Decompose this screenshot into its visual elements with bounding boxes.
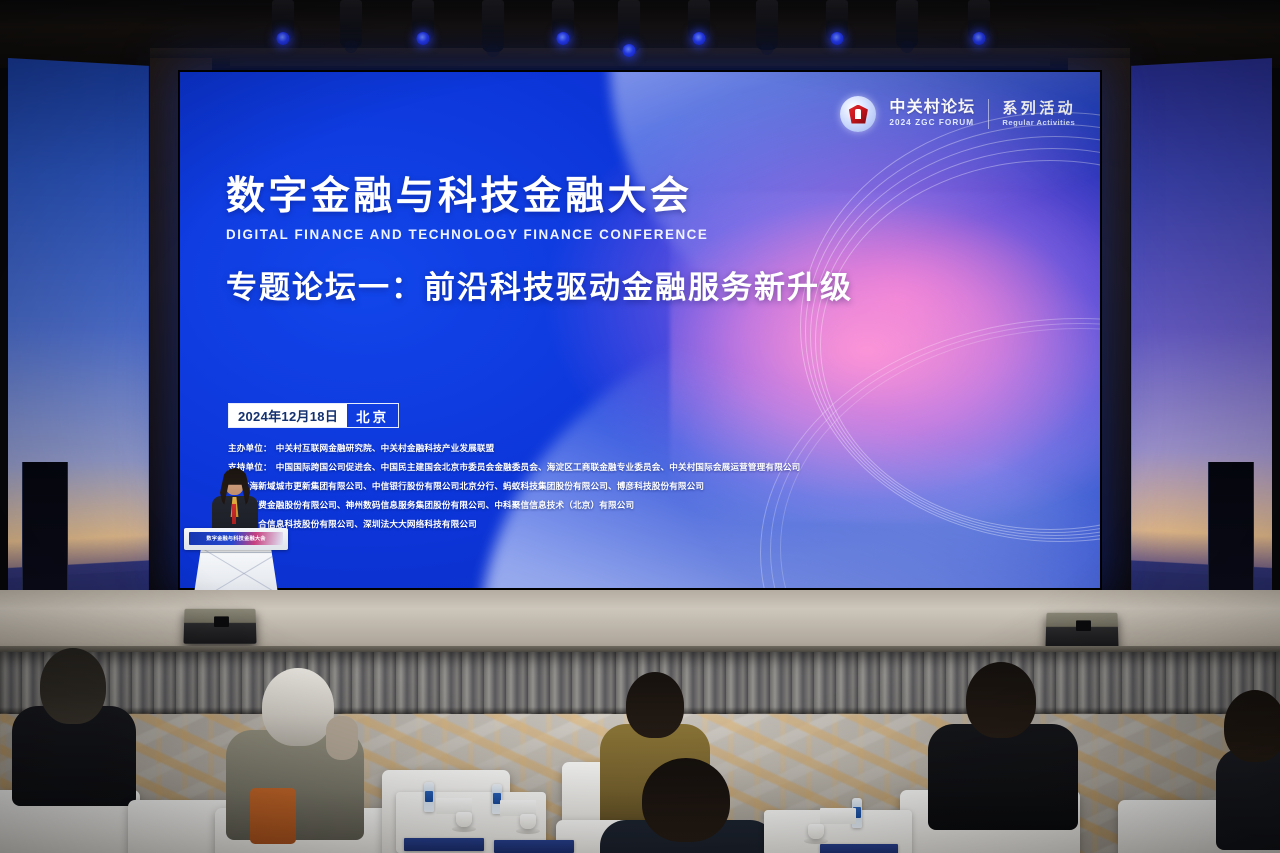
side-door-left — [22, 462, 68, 610]
attendee-head — [626, 672, 684, 738]
logo-series-en: Regular Activities — [1002, 119, 1076, 127]
organizer-text: 北京海新域城市更新集团有限公司、中信银行股份有限公司北京分行、蚂蚁科技集团股份有… — [232, 481, 704, 491]
stage-monitor-wedge-left — [183, 609, 256, 644]
conference-title-en: DIGITAL FINANCE AND TECHNOLOGY FINANCE C… — [226, 227, 853, 242]
place-card — [820, 808, 856, 824]
logo-series-block: 系列活动 Regular Activities — [1002, 101, 1076, 127]
podium-sign-text: 数字金融与科技金融大会 — [206, 535, 265, 542]
delegate-nameplate — [404, 838, 484, 851]
tea-cup — [456, 812, 472, 827]
attendee-head — [642, 758, 730, 842]
organizer-text: 中国国际跨国公司促进会、中国民主建国会北京市委员会金融委员会、海淀区工商联金融专… — [276, 462, 801, 472]
organizer-text: 中关村互联网金融研究院、中关村金融科技产业发展联盟 — [276, 443, 495, 453]
logo-divider — [988, 99, 989, 129]
attendee-head — [966, 662, 1036, 738]
moving-head-stage-light — [896, 0, 918, 48]
stage-monitor-wedge-right — [1045, 613, 1118, 648]
moving-head-stage-light — [482, 0, 504, 52]
organizer-line: 马上消费金融股份有限公司、神州数码信息服务集团股份有限公司、中科聚信信息技术（北… — [228, 501, 800, 510]
organizer-text: 马上消费金融股份有限公司、神州数码信息服务集团股份有限公司、中科聚信信息技术（北… — [232, 500, 634, 510]
organizer-label: 主办单位： — [228, 443, 272, 453]
moving-head-stage-light — [340, 0, 362, 48]
attendee-head — [1224, 690, 1280, 762]
moving-head-stage-light — [272, 0, 294, 40]
organizer-line: 支持单位：中国国际跨国公司促进会、中国民主建国会北京市委员会金融委员会、海淀区工… — [228, 463, 800, 472]
logo-series-cn: 系列活动 — [1002, 101, 1076, 116]
conference-title-cn: 数字金融与科技金融大会 — [226, 176, 853, 218]
led-backdrop-screen: 中关村论坛 2024 ZGC FORUM 系列活动 Regular Activi… — [178, 70, 1102, 590]
side-door-right — [1208, 462, 1254, 610]
delegate-nameplate — [494, 840, 574, 853]
attendee-center-front — [612, 758, 762, 853]
podium-top: 数字金融与科技金融大会 — [184, 528, 288, 550]
conference-hall: 中关村论坛 2024 ZGC FORUM 系列活动 Regular Activi… — [0, 0, 1280, 853]
ceiling-truss-beam-secondary — [230, 57, 1050, 66]
moving-head-stage-light — [688, 0, 710, 40]
tea-cup — [520, 814, 536, 829]
attendee-white-hair — [226, 668, 364, 828]
speaker-lanyard — [232, 504, 236, 524]
attendee-body — [1216, 748, 1280, 850]
date-location-badge: 2024年12月18日 北京 — [228, 403, 399, 428]
attendee-scarf — [250, 788, 296, 844]
water-bottle — [424, 782, 434, 812]
zgc-emblem-icon — [840, 96, 876, 132]
forum-subtitle-cn: 专题论坛一：前沿科技驱动金融服务新升级 — [226, 262, 853, 307]
organizer-line: 北京海新域城市更新集团有限公司、中信银行股份有限公司北京分行、蚂蚁科技集团股份有… — [228, 482, 800, 491]
event-date: 2024年12月18日 — [229, 404, 347, 427]
moving-head-stage-light — [826, 0, 848, 40]
speaker-at-podium — [206, 468, 264, 534]
moving-head-stage-light — [412, 0, 434, 40]
tea-cup — [808, 824, 824, 839]
screen-headline-block: 数字金融与科技金融大会 DIGITAL FINANCE AND TECHNOLO… — [226, 176, 853, 307]
attendee-right-black — [928, 662, 1078, 818]
event-city: 北京 — [347, 404, 398, 427]
logo-brand-en: 2024 ZGC FORUM — [889, 119, 975, 127]
attendee-body — [928, 724, 1078, 830]
logo-brand-block: 中关村论坛 2024 ZGC FORUM — [889, 100, 975, 127]
moving-head-stage-light — [618, 0, 640, 52]
attendee-arm — [326, 716, 358, 760]
moving-head-stage-light — [552, 0, 574, 40]
zgc-forum-logo: 中关村论坛 2024 ZGC FORUM 系列活动 Regular Activi… — [840, 96, 1076, 132]
moving-head-stage-light — [756, 0, 778, 50]
attendee-front-left — [12, 648, 136, 798]
attendee-far-right — [1216, 690, 1280, 840]
organizer-line: 主办单位：中关村互联网金融研究院、中关村金融科技产业发展联盟 — [228, 444, 800, 453]
delegate-nameplate — [820, 844, 898, 853]
organizer-list: 主办单位：中关村互联网金融研究院、中关村金融科技产业发展联盟 支持单位：中国国际… — [228, 444, 800, 539]
attendee-head — [262, 668, 334, 746]
attendee-head — [40, 648, 106, 724]
podium-sign: 数字金融与科技金融大会 — [189, 532, 283, 545]
moving-head-stage-light — [968, 0, 990, 40]
logo-brand-cn: 中关村论坛 — [889, 100, 975, 116]
organizer-line: 上海合合信息科技股份有限公司、深圳法大大网络科技有限公司 — [228, 520, 800, 529]
